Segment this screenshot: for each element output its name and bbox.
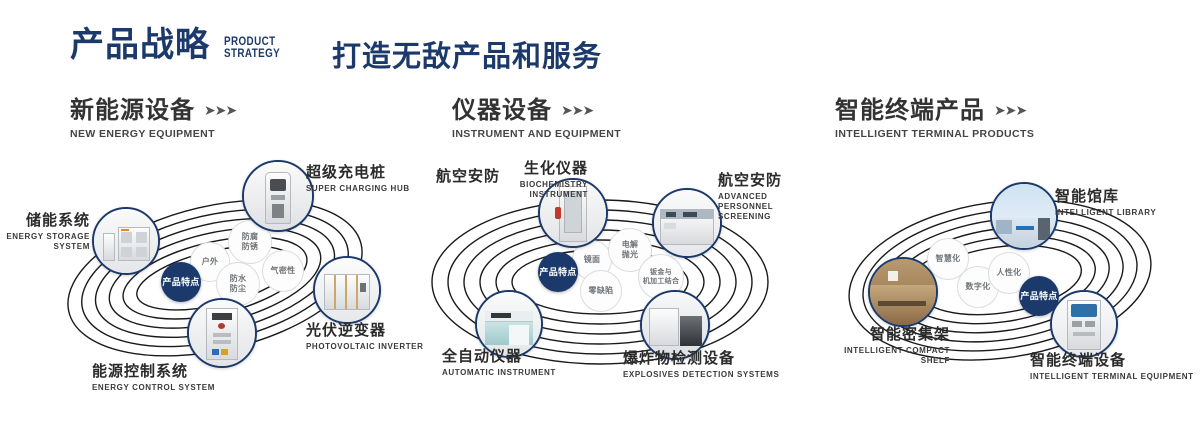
node-label-intelligent-compact-shelf: 智能密集架 INTELLIGENT COMPACT SHELF xyxy=(760,326,950,366)
node-energy-control-system[interactable] xyxy=(187,298,257,368)
chevron-right-icon: ➤➤➤ xyxy=(994,102,1026,119)
page-title-block: 产品战略 PRODUCT STRATEGY xyxy=(70,28,292,62)
orbit-group-instrument: 镜面 电解 抛光 零缺陷 钣金与 机加工结合 产品特点 生化仪器 BIOCHEM… xyxy=(400,150,800,400)
page-title-en-line2: STRATEGY xyxy=(224,47,280,59)
feature-bubble: 零缺陷 xyxy=(580,270,622,312)
product-strategy-infographic: 产品战略 PRODUCT STRATEGY 打造无敌产品和服务 新能源设备 ➤➤… xyxy=(0,0,1200,422)
page-subtitle: 打造无敌产品和服务 xyxy=(332,33,602,75)
node-intelligent-terminal-equipment[interactable] xyxy=(1050,290,1118,358)
node-intelligent-library[interactable] xyxy=(990,182,1058,250)
node-advanced-personnel-screening[interactable] xyxy=(652,188,722,258)
section-title-en: INTELLIGENT TERMINAL PRODUCTS xyxy=(835,128,1034,140)
node-label-energy-storage-system: 储能系统 ENERGY STORAGE SYSTEM xyxy=(0,212,90,252)
node-label-intelligent-library: 智能馆库 INTELLIGENT LIBRARY xyxy=(1055,188,1156,218)
node-label-energy-control-system: 能源控制系统 ENERGY CONTROL SYSTEM xyxy=(92,363,215,393)
orbit-group-new-energy: 户外 防腐 防锈 防水 防尘 气密性 产品特点 储能系统 ENERGY STOR… xyxy=(10,150,410,400)
page-title-cn: 产品战略 xyxy=(70,28,210,62)
feature-bubble: 气密性 xyxy=(262,250,304,292)
chevron-right-icon: ➤➤➤ xyxy=(204,102,236,119)
node-super-charging-hub[interactable] xyxy=(242,160,314,232)
node-label-aviation-security-left: 航空安防 xyxy=(390,168,500,186)
section-title-en: INSTRUMENT AND EQUIPMENT xyxy=(452,128,621,140)
chevron-right-icon: ➤➤➤ xyxy=(561,102,593,119)
section-title-cn: 智能终端产品 xyxy=(835,98,985,123)
node-intelligent-compact-shelf[interactable] xyxy=(868,257,938,327)
node-label-intelligent-terminal-equipment: 智能终端设备 INTELLIGENT TERMINAL EQUIPMENT xyxy=(1030,352,1194,382)
orbit-group-intelligent-terminal: 智慧化 数字化 人性化 产品特点 智能馆库 INTELLIGENT LIBRAR… xyxy=(800,150,1200,400)
node-energy-storage-system[interactable] xyxy=(92,207,160,275)
node-label-explosives-detection-systems: 爆炸物检测设备 EXPLOSIVES DETECTION SYSTEMS xyxy=(623,350,779,380)
core-bubble-product-features: 产品特点 xyxy=(538,252,578,292)
section-title-cn: 仪器设备 xyxy=(452,98,552,123)
section-title-en: NEW ENERGY EQUIPMENT xyxy=(70,128,236,140)
section-title-new-energy: 新能源设备 ➤➤➤ NEW ENERGY EQUIPMENT xyxy=(70,98,236,140)
core-bubble-product-features: 产品特点 xyxy=(161,262,201,302)
section-title-instrument: 仪器设备 ➤➤➤ INSTRUMENT AND EQUIPMENT xyxy=(452,98,621,140)
node-photovoltaic-inverter[interactable] xyxy=(313,256,381,324)
node-label-advanced-personnel-screening: 航空安防 ADVANCED PERSONNEL SCREENING xyxy=(718,172,800,222)
node-label-automatic-instrument: 全自动仪器 AUTOMATIC INSTRUMENT xyxy=(442,348,556,378)
page-title-en: PRODUCT STRATEGY xyxy=(224,35,280,62)
section-title-cn: 新能源设备 xyxy=(70,98,195,123)
section-title-intelligent-terminal: 智能终端产品 ➤➤➤ INTELLIGENT TERMINAL PRODUCTS xyxy=(835,98,1034,140)
